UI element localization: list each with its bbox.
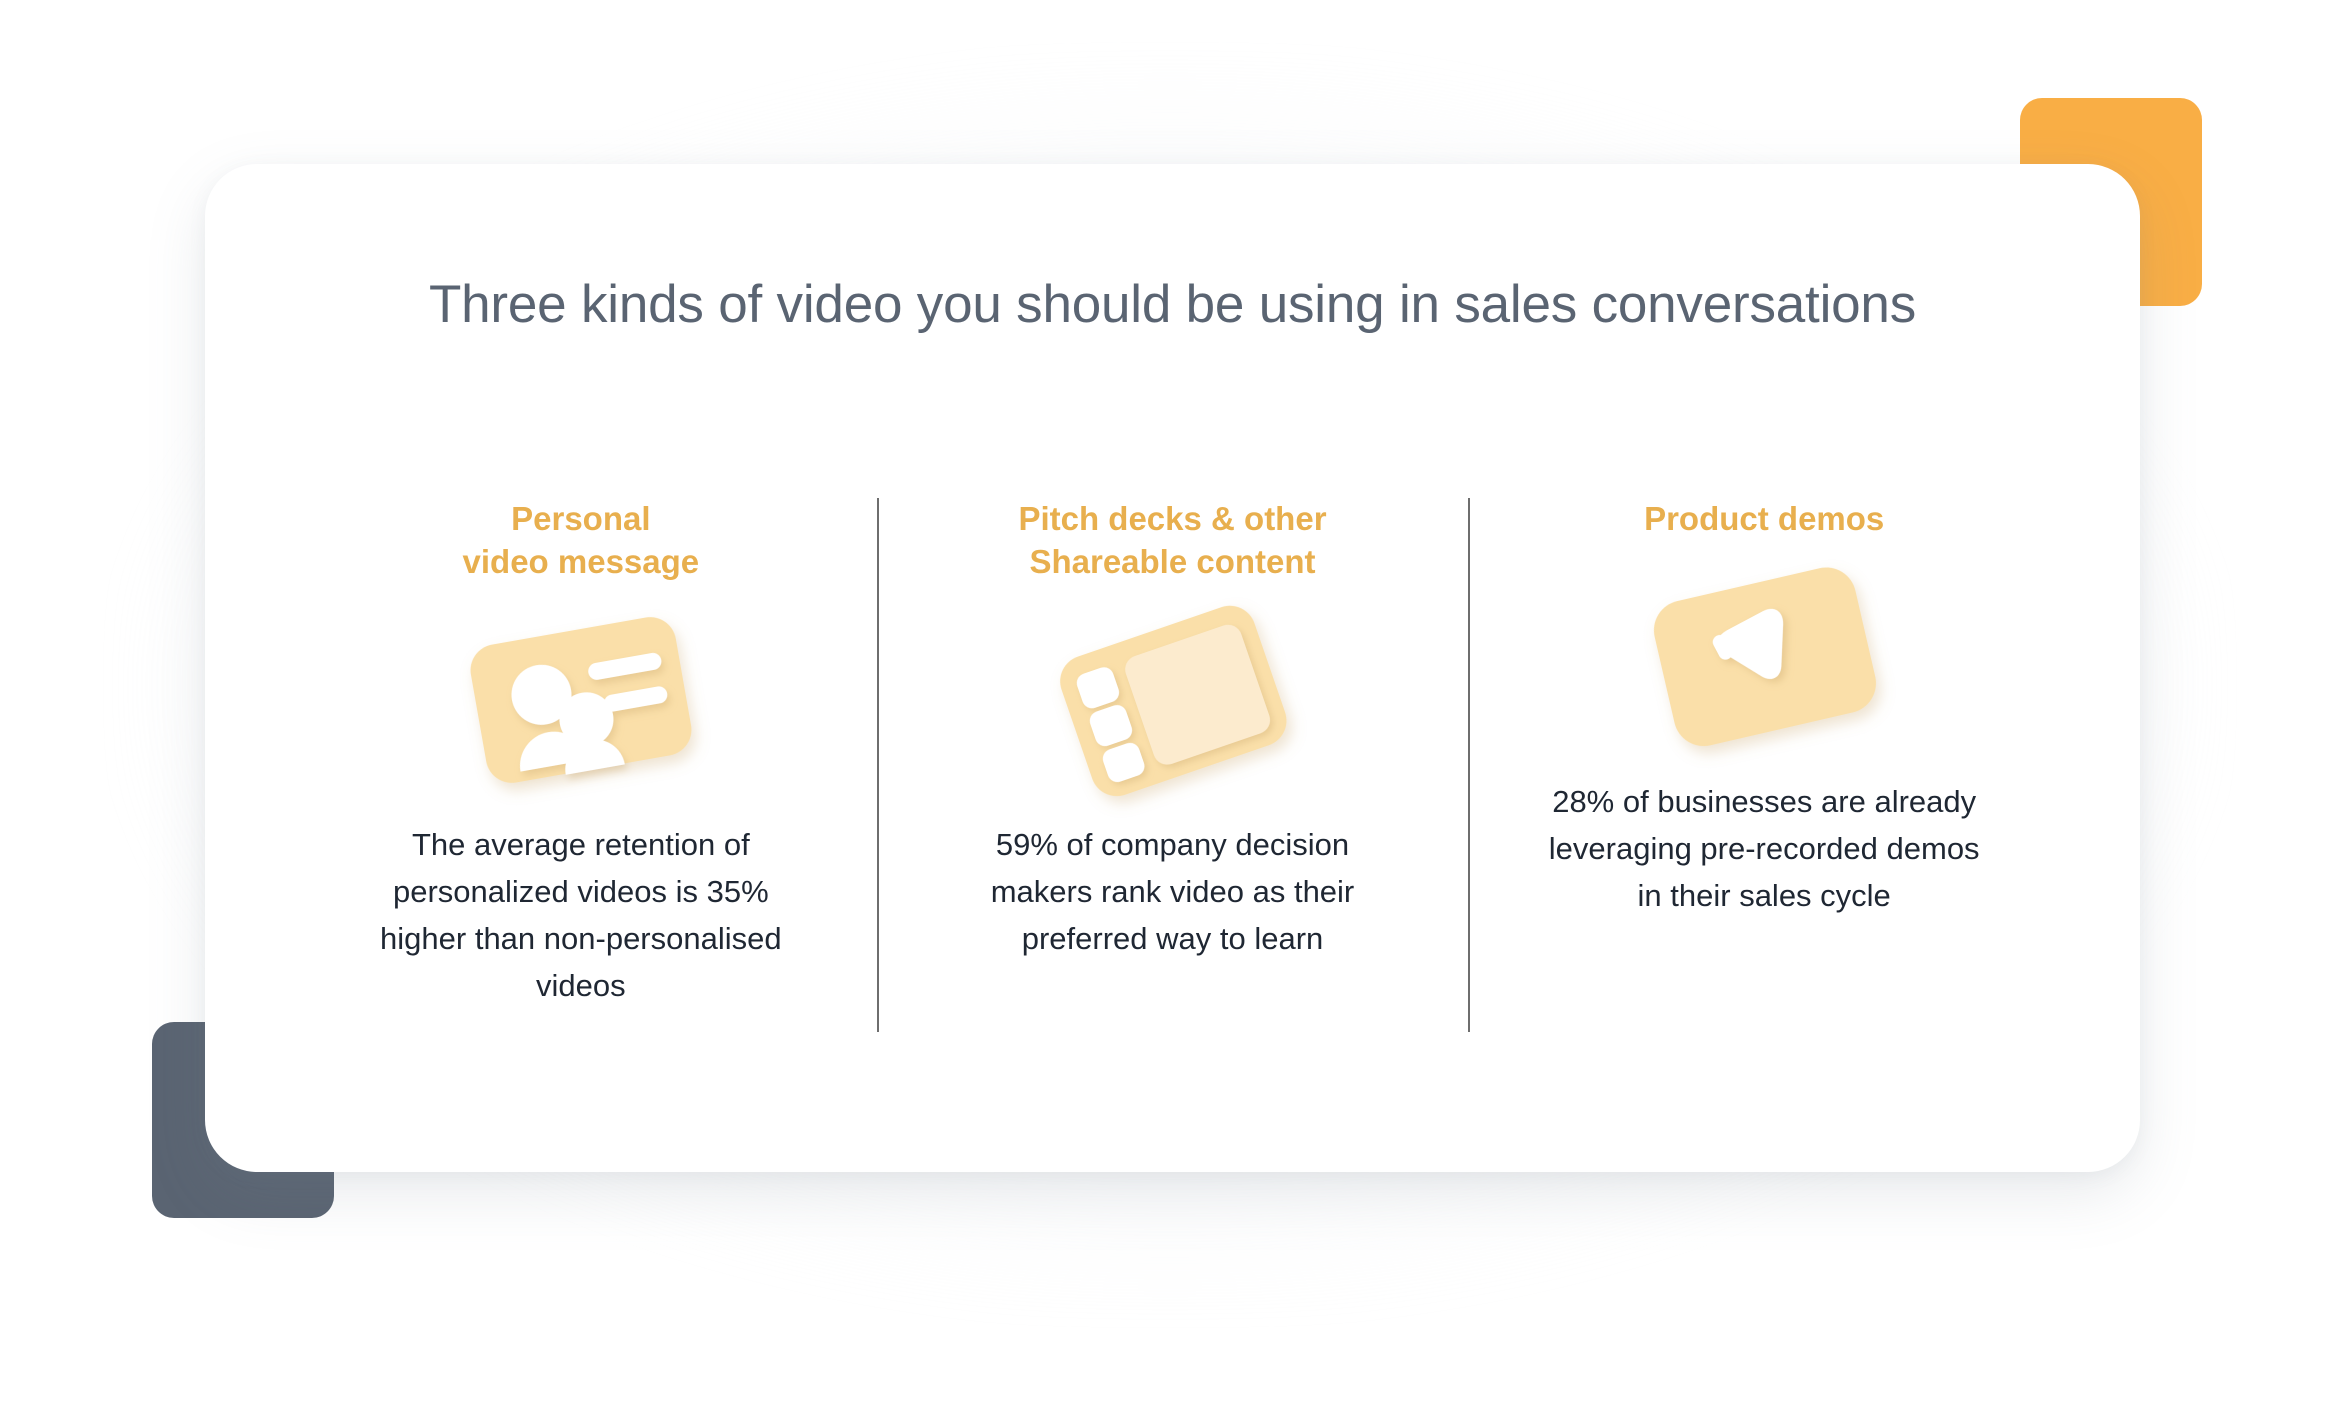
column-body-text: 28% of businesses are already leveraging… (1539, 778, 1989, 919)
pitch-deck-slides-icon (1023, 608, 1323, 793)
columns-container: Personal video message (285, 498, 2060, 1058)
column-product-demos: Product demos (1468, 498, 2060, 1058)
personal-video-message-icon (431, 608, 731, 793)
column-pitch-decks: Pitch decks & other Shareable content (877, 498, 1469, 1058)
infographic-stage: Three kinds of video you should be using… (0, 0, 2348, 1412)
play-video-icon (1614, 565, 1914, 750)
column-body-text: 59% of company decision makers rank vide… (958, 821, 1388, 962)
content-card: Three kinds of video you should be using… (205, 164, 2140, 1172)
page-title: Three kinds of video you should be using… (205, 274, 2140, 335)
column-body-text: The average retention of personalized vi… (361, 821, 801, 1009)
column-personal-video-message: Personal video message (285, 498, 877, 1058)
column-heading: Pitch decks & other Shareable content (1018, 498, 1326, 584)
column-heading: Personal video message (463, 498, 700, 584)
column-heading: Product demos (1644, 498, 1884, 541)
